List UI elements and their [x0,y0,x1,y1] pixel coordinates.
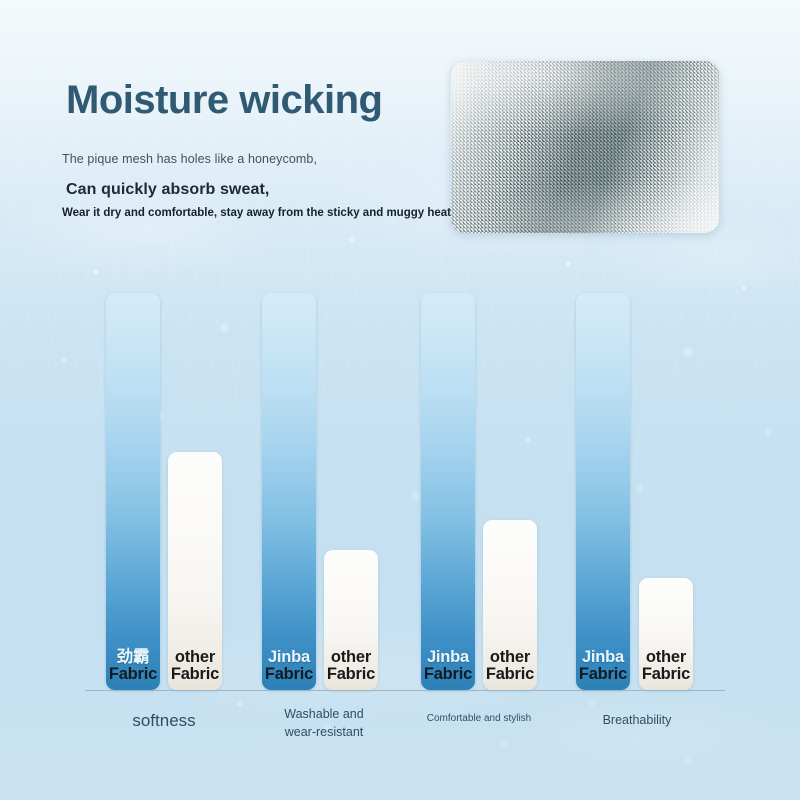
category-label-comfortable: Comfortable and stylish [404,712,554,727]
bar-label-line1: other [639,649,693,666]
category-label-washable: Washable and wear-resistant [249,705,399,741]
bar-label-line2: Fabric [421,666,475,683]
bar-brand-washable: Jinba Fabric [262,293,316,690]
bar-label-line2: Fabric [262,666,316,683]
poster-root: Moisture wicking The pique mesh has hole… [0,0,800,800]
bar-label-line2: Fabric [106,666,160,683]
category-label-softness: softness [84,709,244,734]
bar-label-line1: Jinba [421,649,475,666]
bar-label-line1: Jinba [576,649,630,666]
bar-label-other-softness: other Fabric [168,649,222,683]
category-label-breathability: Breathability [562,711,712,729]
bar-label-other-comfortable: other Fabric [483,649,537,683]
chart-axis-line [85,690,725,691]
bar-label-line1: other [324,649,378,666]
bar-label-other-breathability: other Fabric [639,649,693,683]
bar-label-line1: 劲霸 [106,649,160,666]
bar-label-line2: Fabric [576,666,630,683]
bar-label-line2: Fabric [168,666,222,683]
bar-label-brand-washable: Jinba Fabric [262,649,316,683]
bar-brand-breathability: Jinba Fabric [576,293,630,690]
bar-brand-softness: 劲霸 Fabric [106,293,160,690]
bar-label-other-washable: other Fabric [324,649,378,683]
bar-label-line1: other [168,649,222,666]
bar-label-line2: Fabric [483,666,537,683]
comparison-bar-chart: 劲霸 Fabric other Fabric Jinba Fabric othe… [0,0,800,800]
bar-other-washable: other Fabric [324,550,378,690]
bar-label-line1: other [483,649,537,666]
bar-label-line2: Fabric [639,666,693,683]
bar-label-brand-softness: 劲霸 Fabric [106,649,160,683]
bar-label-line1: Jinba [262,649,316,666]
bar-other-softness: other Fabric [168,452,222,690]
bar-brand-comfortable: Jinba Fabric [421,293,475,690]
bar-other-breathability: other Fabric [639,578,693,690]
bar-label-line2: Fabric [324,666,378,683]
bar-other-comfortable: other Fabric [483,520,537,690]
bar-label-brand-comfortable: Jinba Fabric [421,649,475,683]
bar-label-brand-breathability: Jinba Fabric [576,649,630,683]
